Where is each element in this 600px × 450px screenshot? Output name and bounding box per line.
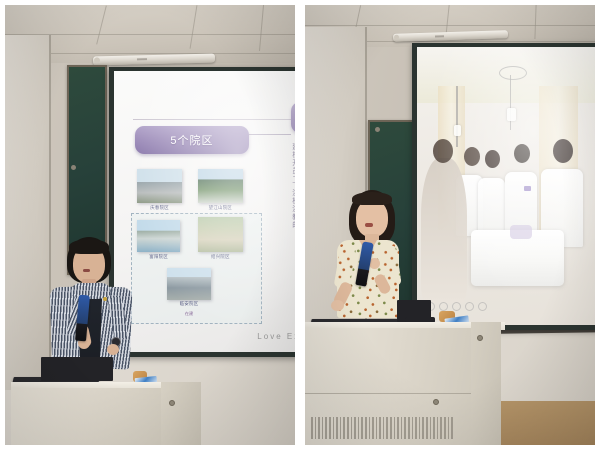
presenter-hand-left: [107, 344, 119, 355]
slide-thumbnail: [198, 169, 244, 203]
control-dot: [439, 302, 448, 311]
hospital-ward-photo: [417, 47, 596, 325]
podium-vent-right: [311, 417, 461, 439]
podium-seam-right: [305, 393, 473, 394]
presenter-lapel-pin: [103, 297, 107, 301]
ward-head-dark-hair-d: [553, 139, 573, 163]
screen-surface-right: [417, 47, 596, 325]
foreground-head: [433, 139, 453, 163]
slide-badge-campuses: 5个院区: [135, 126, 249, 154]
presenter-mouth: [365, 223, 373, 227]
projection-screen-right: [412, 43, 600, 330]
presenter-bangs: [352, 192, 392, 205]
slide-thumbnail: [167, 268, 211, 300]
vertical-char: 建: [292, 144, 299, 151]
slide-thumbnail-sublabel: 在建: [165, 311, 213, 317]
iv-pole-left: [456, 86, 457, 147]
coat-badge: [524, 186, 531, 191]
vertical-char: 浙: [292, 206, 299, 213]
chalkboard-knob-left: [71, 165, 76, 170]
vertical-char: 开: [292, 160, 299, 167]
podium-face-left: [11, 388, 163, 450]
control-dot: [452, 302, 461, 311]
vertical-char: 卫: [292, 177, 299, 184]
wooden-floor-right: [501, 401, 600, 450]
slide-badge-label: 5个院区: [170, 132, 213, 148]
iv-bag-center: [507, 108, 516, 121]
hospital-bed: [471, 230, 564, 286]
ward-head-dark-hair-b: [485, 150, 500, 168]
laptop-lid-left: [41, 357, 113, 381]
chalkboard-knob-right: [375, 127, 380, 132]
vertical-char: 员: [292, 168, 299, 175]
bed-pillow: [510, 225, 531, 239]
slide-thumbnail-caption: 绍兴院区: [196, 254, 245, 260]
presenter-mouth: [83, 269, 90, 272]
slide-divider-rule: [133, 119, 296, 120]
collage-panel-right: [300, 0, 600, 450]
control-dot: [478, 302, 487, 311]
slide-thumbnail: [137, 169, 183, 203]
control-dot: [465, 302, 474, 311]
photo-collage: 5个院区 Z 庆春院区 望江山院区 富阳院区: [0, 0, 600, 450]
slide-thumbnail: [198, 217, 244, 252]
slide-footer-text: Love Ex: [257, 332, 300, 341]
white-coat-b: [478, 178, 505, 236]
slide-thumbnail-caption: 庆春院区: [137, 205, 183, 211]
vertical-char: 教: [292, 214, 299, 221]
collage-panel-left: 5个院区 Z 庆春院区 望江山院区 富阳院区: [0, 0, 300, 450]
vertical-char: 杭: [292, 198, 299, 205]
ward-head-dark-hair-c: [514, 144, 530, 163]
presenter-bangs: [69, 239, 109, 254]
vertical-char: 的: [292, 222, 299, 229]
podium-lock-left: [169, 400, 175, 406]
presenter-hand-right: [331, 300, 344, 311]
slide-thumbnail-caption: 临安院区: [165, 301, 213, 307]
iv-bag-left: [454, 125, 461, 136]
podium-side-left: [161, 382, 201, 450]
podium-lock-front-right: [433, 399, 439, 405]
iv-pole-center: [510, 75, 511, 131]
vertical-char: 浙: [292, 190, 299, 197]
podium-side-right: [471, 322, 501, 450]
ward-head-dark-hair-a: [464, 147, 480, 166]
slide-thumbnail-caption: 望江山院区: [194, 205, 247, 211]
vertical-char: 核: [292, 152, 299, 159]
podium-lock-top-right: [477, 335, 483, 341]
slide-badge-side: Z: [291, 102, 300, 133]
slide-vertical-text: 建 核 开 员 卫 浙 杭 浙 教 的: [292, 144, 299, 229]
